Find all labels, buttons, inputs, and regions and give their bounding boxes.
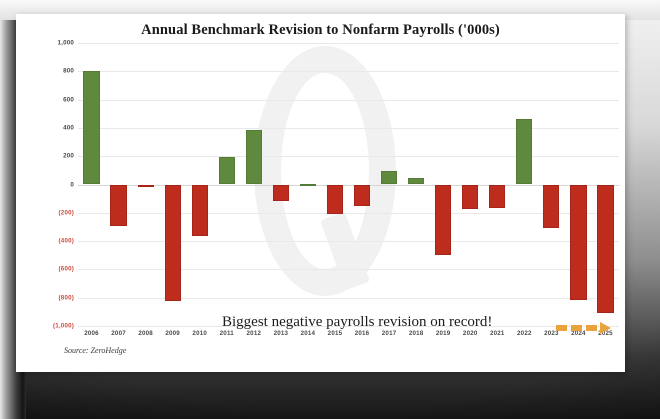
bar-2021[interactable] [489,185,505,208]
gridline [78,43,619,44]
gridline [78,156,619,157]
bar-2023[interactable] [543,185,559,228]
y-axis-tick-label: (1,000) [28,323,74,330]
y-axis-tick-label: 400 [28,124,74,131]
x-axis-tick-label-2007: 2007 [105,330,132,337]
gridline [78,269,619,270]
gridline [78,298,619,299]
bar-2020[interactable] [462,185,478,209]
y-axis-tick-label: (800) [28,294,74,301]
bar-2015[interactable] [327,185,343,214]
x-axis-tick-label-2022: 2022 [511,330,538,337]
plot-area [78,43,619,326]
x-axis-tick-label-2009: 2009 [159,330,186,337]
bar-2017[interactable] [381,171,397,184]
bar-2022[interactable] [516,119,532,184]
x-axis-tick-label-2011: 2011 [213,330,240,337]
bar-2008[interactable] [138,185,154,187]
x-axis-tick-label-2012: 2012 [240,330,267,337]
y-axis-tick-label: 1,000 [28,40,74,47]
bar-2013[interactable] [273,185,289,202]
x-axis-tick-label-2021: 2021 [484,330,511,337]
chart-title: Annual Benchmark Revision to Nonfarm Pay… [16,22,625,39]
bar-2014[interactable] [300,184,316,186]
y-axis-tick-label: 200 [28,153,74,160]
x-axis-tick-label-2008: 2008 [132,330,159,337]
annotation-text: Biggest negative payrolls revision on re… [222,314,492,331]
bar-2018[interactable] [408,178,424,184]
gridline [78,100,619,101]
chart-card: Annual Benchmark Revision to Nonfarm Pay… [16,14,625,372]
bar-2024[interactable] [570,185,586,301]
screenshot-root: Annual Benchmark Revision to Nonfarm Pay… [0,0,660,419]
y-axis-tick-label: (400) [28,238,74,245]
y-axis-tick-label: 600 [28,96,74,103]
bar-2016[interactable] [354,185,370,206]
x-axis-tick-label-2013: 2013 [267,330,294,337]
gridline [78,71,619,72]
x-axis-tick-label-2019: 2019 [430,330,457,337]
gridline [78,213,619,214]
y-axis-tick-label: 800 [28,68,74,75]
gridline [78,241,619,242]
x-axis-tick-label-2020: 2020 [457,330,484,337]
bar-2006[interactable] [83,71,99,184]
bar-2012[interactable] [246,130,262,185]
x-axis-tick-labels: 2006200720082009201020112012201320142015… [78,330,619,344]
y-axis-tick-label: 0 [28,181,74,188]
bar-2011[interactable] [219,157,235,184]
x-axis-tick-label-2014: 2014 [294,330,321,337]
x-axis-tick-label-2017: 2017 [376,330,403,337]
annotation-arrow-icon [556,322,618,334]
bar-2007[interactable] [110,185,126,226]
bar-2025[interactable] [597,185,613,314]
y-axis-tick-label: (200) [28,209,74,216]
x-axis-tick-label-2016: 2016 [349,330,376,337]
x-axis-tick-label-2018: 2018 [403,330,430,337]
y-axis-tick-label: (600) [28,266,74,273]
gridline [78,128,619,129]
bar-2010[interactable] [192,185,208,237]
bar-2019[interactable] [435,185,451,256]
zero-axis-line [78,185,619,186]
x-axis-tick-label-2006: 2006 [78,330,105,337]
x-axis-tick-label-2015: 2015 [321,330,348,337]
bar-2009[interactable] [165,185,181,302]
y-axis-tick-labels: 1,0008006004002000(200)(400)(600)(800)(1… [24,43,74,326]
x-axis-tick-label-2010: 2010 [186,330,213,337]
source-note: Source: ZeroHedge [64,346,126,355]
